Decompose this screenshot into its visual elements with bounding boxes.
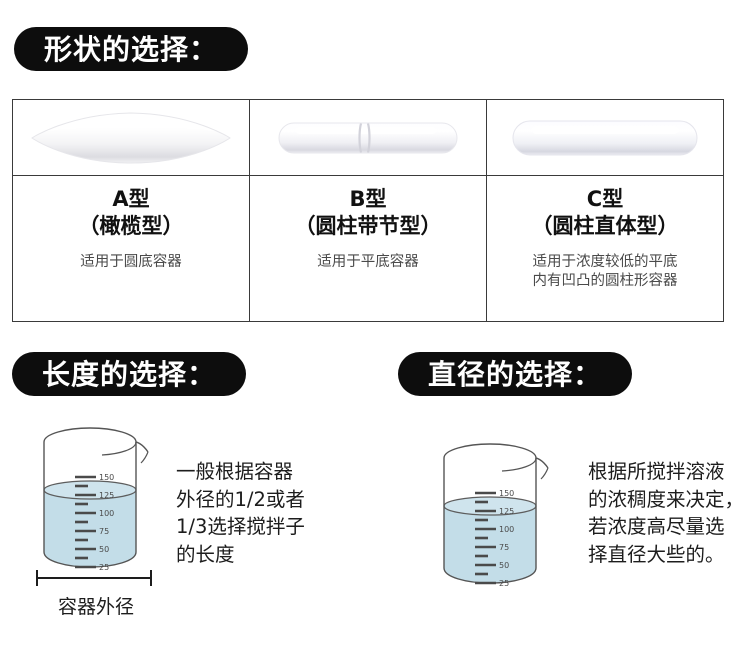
cylindrical-plain-stir-bar-icon: [510, 113, 700, 163]
shape-text-cell-b: B型 （圆柱带节型） 适用于平底容器: [250, 176, 486, 321]
section-header-diameter: 直径的选择：: [398, 352, 632, 396]
section-header-length-label: 长度的选择：: [42, 353, 216, 393]
shape-subtype-b: （圆柱带节型）: [295, 213, 442, 240]
diameter-note-text: 根据所搅拌溶液 的浓稠度来决定， 若浓度高尽量选 择直径大些的。: [588, 458, 737, 569]
shape-desc-a: 适用于圆底容器: [80, 253, 182, 273]
cylindrical-pivot-ring-stir-bar-icon: [276, 115, 460, 161]
shape-column-a: A型 （橄榄型） 适用于圆底容器: [13, 100, 250, 321]
length-beaker-illustration: 150 125 100 75 50 25: [28, 424, 158, 578]
olive-shaped-stir-bar-icon: [28, 108, 234, 168]
shape-text-cell-a: A型 （橄榄型） 适用于圆底容器: [13, 176, 249, 321]
svg-text:75: 75: [99, 527, 109, 536]
shape-column-c: C型 （圆柱直体型） 适用于浓度较低的平底 内有凹凸的圆柱形容器: [487, 100, 723, 321]
svg-text:75: 75: [499, 543, 509, 552]
shape-desc-b: 适用于平底容器: [317, 253, 419, 273]
diameter-beaker-illustration: 150 125 100 75 50 25: [428, 440, 558, 594]
shape-desc-c: 适用于浓度较低的平底 内有凹凸的圆柱形容器: [533, 253, 678, 292]
section-header-diameter-label: 直径的选择：: [428, 353, 602, 393]
beaker-icon: 150 125 100 75 50 25: [428, 575, 558, 594]
shape-subtype-a: （橄榄型）: [79, 213, 184, 240]
svg-text:125: 125: [99, 491, 114, 500]
shape-image-cell-b: [250, 100, 486, 176]
container-outer-diameter-dimension: [33, 568, 157, 592]
svg-text:50: 50: [99, 545, 109, 554]
svg-text:150: 150: [499, 489, 514, 498]
section-header-shape-label: 形状的选择：: [44, 28, 218, 68]
section-header-shape: 形状的选择：: [14, 27, 248, 71]
section-header-length: 长度的选择：: [12, 352, 246, 396]
svg-text:50: 50: [499, 561, 509, 570]
svg-text:150: 150: [99, 473, 114, 482]
shape-comparison-table: A型 （橄榄型） 适用于圆底容器: [12, 99, 724, 322]
shape-column-b: B型 （圆柱带节型） 适用于平底容器: [250, 100, 487, 321]
shape-text-cell-c: C型 （圆柱直体型） 适用于浓度较低的平底 内有凹凸的圆柱形容器: [487, 176, 723, 321]
shape-type-c: C型: [587, 186, 623, 213]
shape-type-b: B型: [349, 186, 386, 213]
svg-text:100: 100: [99, 509, 114, 518]
svg-text:100: 100: [499, 525, 514, 534]
container-outer-diameter-label: 容器外径: [36, 592, 156, 619]
svg-text:25: 25: [499, 579, 509, 588]
svg-text:125: 125: [499, 507, 514, 516]
shape-image-cell-c: [487, 100, 723, 176]
shape-image-cell-a: [13, 100, 249, 176]
shape-subtype-c: （圆柱直体型）: [532, 213, 679, 240]
page-root: 形状的选择：: [0, 0, 737, 647]
shape-type-a: A型: [112, 186, 149, 213]
length-note-text: 一般根据容器 外径的1/2或者 1/3选择搅拌子 的长度: [176, 458, 341, 569]
